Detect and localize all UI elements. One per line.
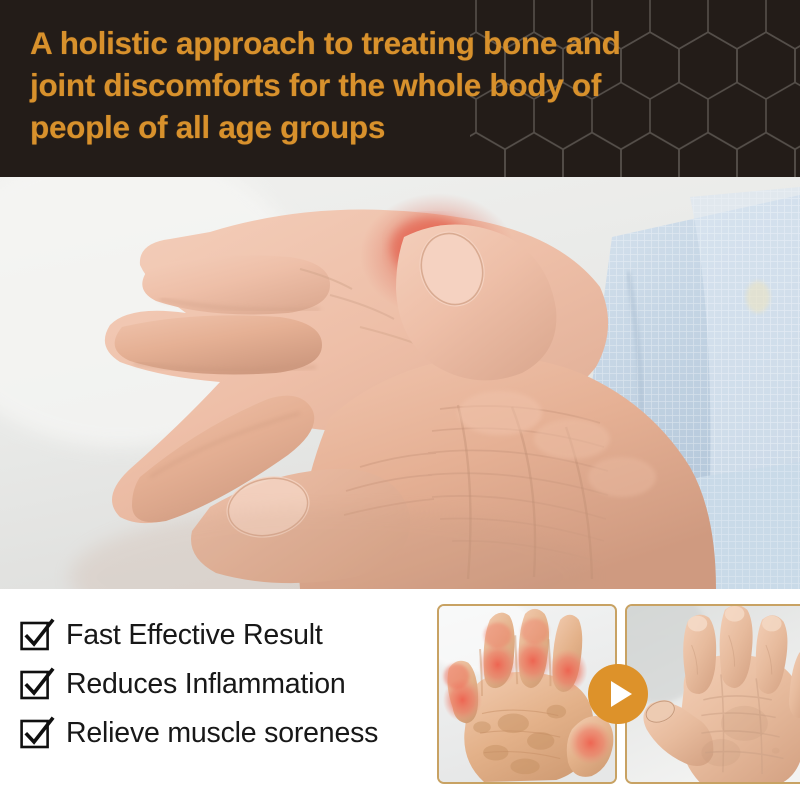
feature-item-2: Relieve muscle soreness xyxy=(20,709,430,758)
checkbox-checked-icon xyxy=(20,670,50,700)
hands-illustration-icon xyxy=(0,177,800,589)
checkbox-checked-icon xyxy=(20,719,50,749)
feature-label: Reduces Inflammation xyxy=(66,670,346,699)
healthy-hand-illustration-icon xyxy=(627,606,800,782)
page-title: A holistic approach to treating bone and… xyxy=(30,22,790,148)
feature-label: Relieve muscle soreness xyxy=(66,719,378,748)
feature-item-0: Fast Effective Result xyxy=(20,611,430,660)
after-thumbnail[interactable] xyxy=(625,604,800,784)
before-after-comparison xyxy=(437,604,800,784)
checkbox-checked-icon xyxy=(20,621,50,651)
feature-label: Fast Effective Result xyxy=(66,621,323,650)
header-band: A holistic approach to treating bone and… xyxy=(0,0,800,177)
play-button[interactable] xyxy=(588,664,648,724)
feature-item-1: Reduces Inflammation xyxy=(20,660,430,709)
bottom-section: Fast Effective Result Reduces Inflammati… xyxy=(0,589,800,800)
feature-list: Fast Effective Result Reduces Inflammati… xyxy=(20,611,430,758)
hero-photo xyxy=(0,177,800,589)
play-triangle-icon xyxy=(611,681,632,707)
product-banner: A holistic approach to treating bone and… xyxy=(0,0,800,800)
